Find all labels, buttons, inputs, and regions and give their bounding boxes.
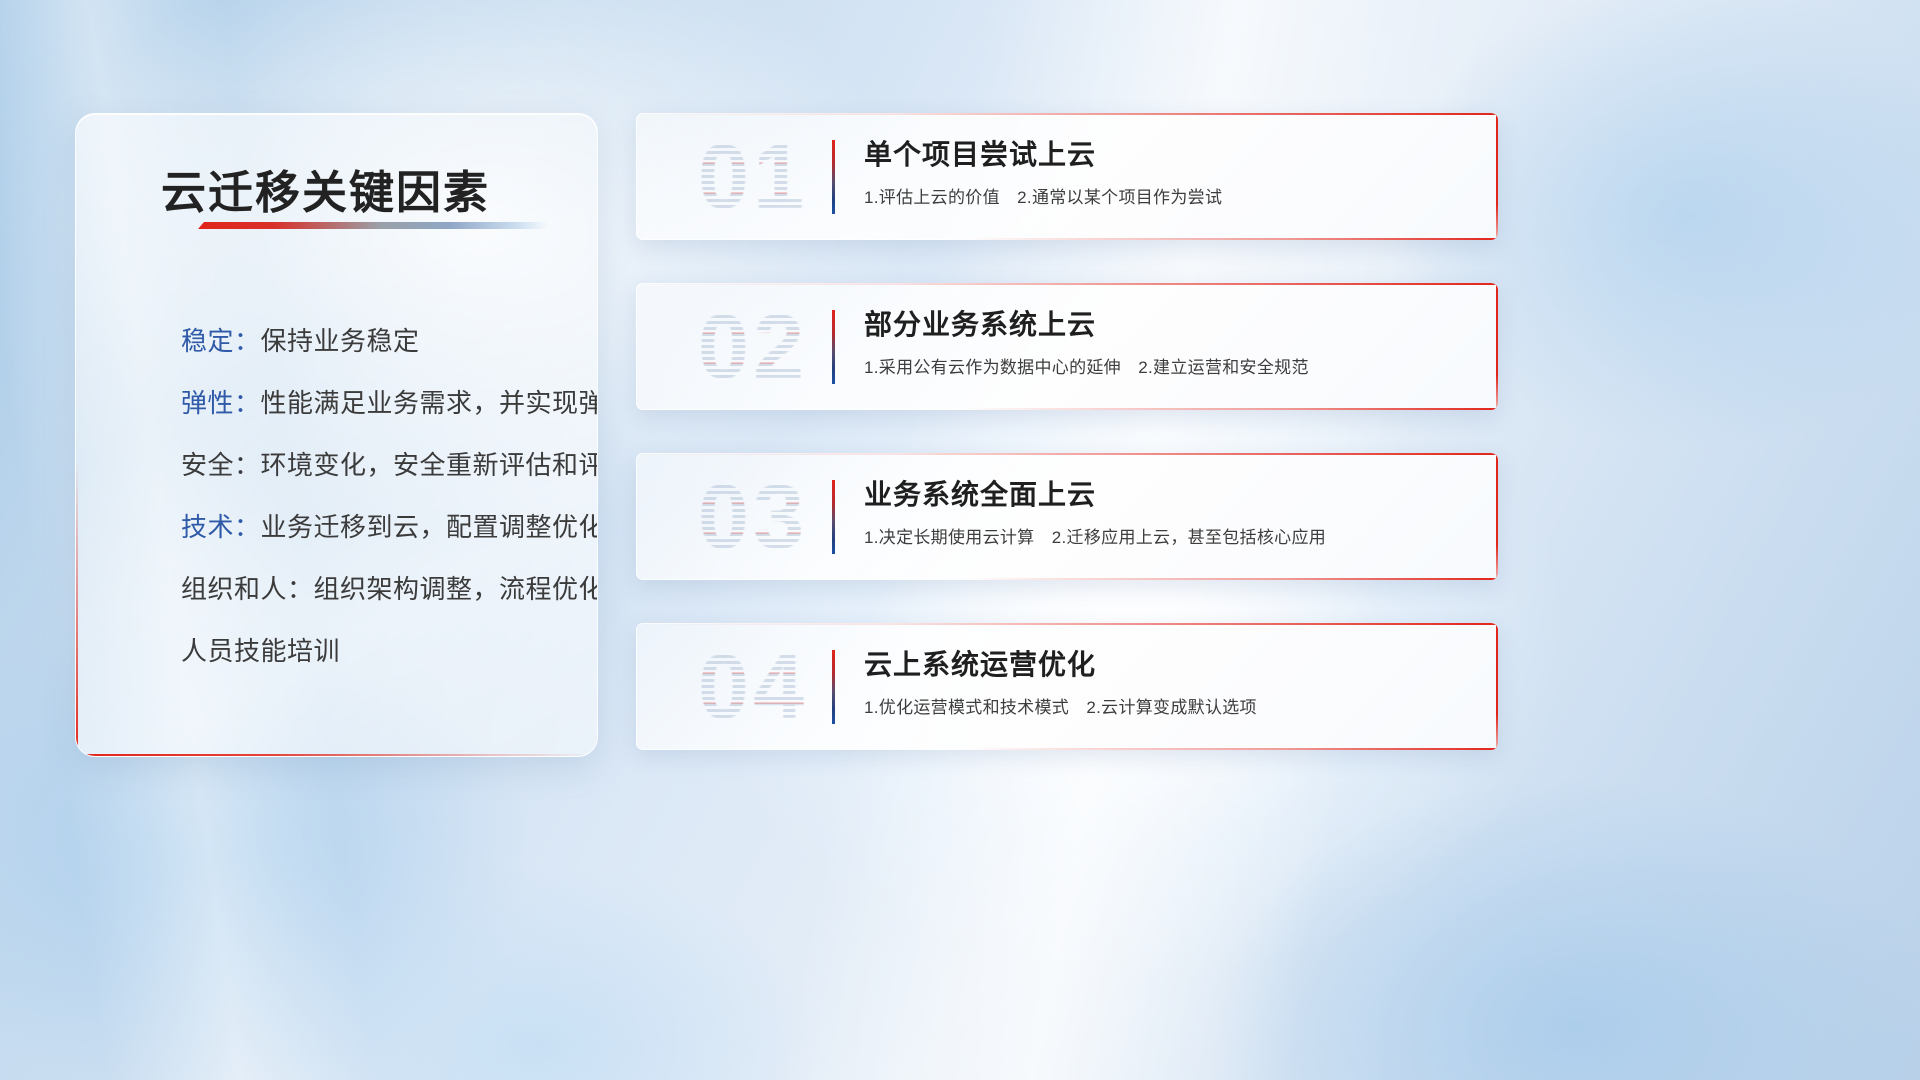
card-top-accent-line — [636, 623, 1498, 625]
card-text-block: 部分业务系统上云 1.采用公有云作为数据中心的延伸 2.建立运营和安全规范 — [864, 305, 1476, 381]
factor-value: 环境变化，安全重新评估和评审 — [261, 450, 598, 480]
card-title: 云上系统运营优化 — [864, 645, 1476, 685]
card-top-accent-line — [636, 453, 1498, 455]
card-description: 1.评估上云的价值 2.通常以某个项目作为尝试 — [864, 185, 1476, 211]
stage-card[interactable]: 04 04 云上系统运营优化 1.优化运营模式和技术模式 2.云计算变成默认选项 — [636, 623, 1498, 750]
factor-row: 弹性：性能满足业务需求，并实现弹性 — [181, 372, 598, 434]
factor-list: 稳定：保持业务稳定 弹性：性能满足业务需求，并实现弹性 安全：环境变化，安全重新… — [181, 310, 598, 682]
card-bottom-accent-line — [964, 408, 1498, 410]
card-accent-bar — [832, 310, 835, 384]
stage-card[interactable]: 03 03 业务系统全面上云 1.决定长期使用云计算 2.迁移应用上云，甚至包括… — [636, 453, 1498, 580]
panel-left-accent-line — [76, 461, 78, 756]
card-description: 1.采用公有云作为数据中心的延伸 2.建立运营和安全规范 — [864, 355, 1476, 381]
card-accent-bar — [832, 480, 835, 554]
card-accent-bar — [832, 650, 835, 724]
card-ghost-number-red-overlay: 03 — [658, 461, 848, 573]
panel-title-underline — [198, 222, 548, 229]
card-title: 部分业务系统上云 — [864, 305, 1476, 345]
factor-key: 安全： — [181, 450, 261, 480]
card-bottom-accent-line — [964, 748, 1498, 750]
card-description: 1.决定长期使用云计算 2.迁移应用上云，甚至包括核心应用 — [864, 525, 1476, 551]
factor-key: 稳定： — [181, 326, 261, 356]
card-ghost-number-red-overlay: 01 — [658, 121, 848, 233]
card-ghost-number-red-overlay: 02 — [658, 291, 848, 403]
panel-bottom-accent-line — [76, 754, 597, 756]
factor-row: 安全：环境变化，安全重新评估和评审 — [181, 434, 598, 496]
factor-row: 稳定：保持业务稳定 — [181, 310, 598, 372]
card-right-accent-line — [1496, 623, 1498, 750]
slide-stage: 云迁移关键因素 稳定：保持业务稳定 弹性：性能满足业务需求，并实现弹性 安全：环… — [0, 0, 1920, 1080]
card-text-block: 业务系统全面上云 1.决定长期使用云计算 2.迁移应用上云，甚至包括核心应用 — [864, 475, 1476, 551]
key-factors-panel: 云迁移关键因素 稳定：保持业务稳定 弹性：性能满足业务需求，并实现弹性 安全：环… — [75, 113, 598, 757]
card-right-accent-line — [1496, 113, 1498, 240]
stage-card[interactable]: 01 01 单个项目尝试上云 1.评估上云的价值 2.通常以某个项目作为尝试 — [636, 113, 1498, 240]
card-description: 1.优化运营模式和技术模式 2.云计算变成默认选项 — [864, 695, 1476, 721]
card-bottom-accent-line — [964, 578, 1498, 580]
factor-key: 组织和人： — [181, 574, 314, 604]
card-right-accent-line — [1496, 453, 1498, 580]
card-top-accent-line — [636, 113, 1498, 115]
stage-card[interactable]: 02 02 部分业务系统上云 1.采用公有云作为数据中心的延伸 2.建立运营和安… — [636, 283, 1498, 410]
factor-row: 技术：业务迁移到云，配置调整优化 — [181, 496, 598, 558]
factor-key: 技术： — [181, 512, 261, 542]
panel-title: 云迁移关键因素 — [161, 156, 571, 221]
card-title: 业务系统全面上云 — [864, 475, 1476, 515]
card-text-block: 单个项目尝试上云 1.评估上云的价值 2.通常以某个项目作为尝试 — [864, 135, 1476, 211]
stage-card-list: 01 01 单个项目尝试上云 1.评估上云的价值 2.通常以某个项目作为尝试 0… — [636, 113, 1498, 793]
card-text-block: 云上系统运营优化 1.优化运营模式和技术模式 2.云计算变成默认选项 — [864, 645, 1476, 721]
card-top-accent-line — [636, 283, 1498, 285]
factor-value: 保持业务稳定 — [261, 326, 420, 356]
card-accent-bar — [832, 140, 835, 214]
factor-value: 性能满足业务需求，并实现弹性 — [261, 388, 598, 418]
card-right-accent-line — [1496, 283, 1498, 410]
card-ghost-number-red-overlay: 04 — [658, 631, 848, 743]
card-bottom-accent-line — [964, 238, 1498, 240]
card-title: 单个项目尝试上云 — [864, 135, 1476, 175]
factor-key: 弹性： — [181, 388, 261, 418]
factor-row: 组织和人：组织架构调整，流程优化，人员技能培训 — [181, 558, 598, 682]
factor-value: 业务迁移到云，配置调整优化 — [261, 512, 598, 542]
